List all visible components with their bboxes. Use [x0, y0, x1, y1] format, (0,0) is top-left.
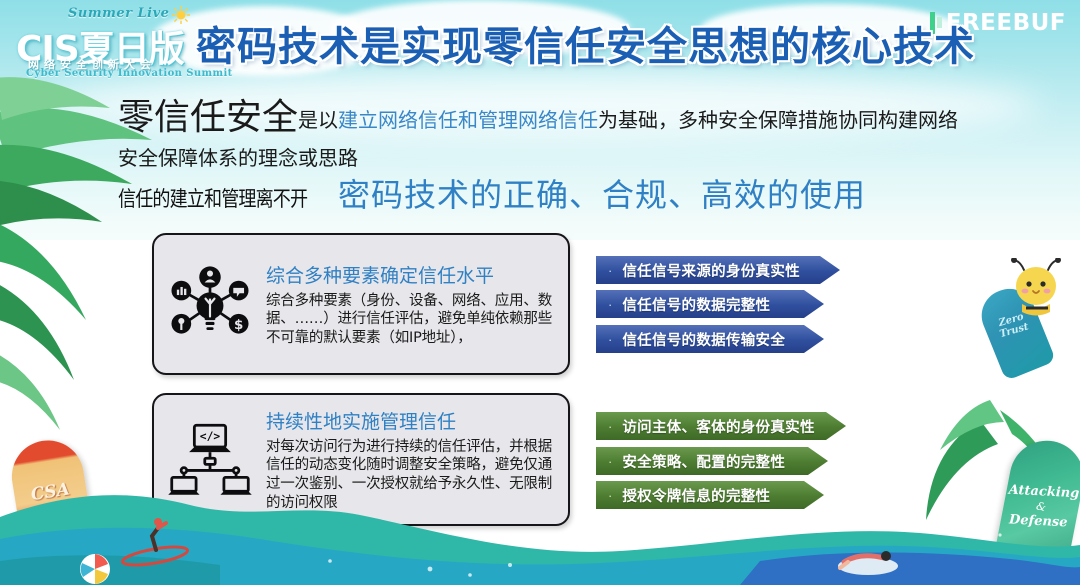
intro-tail: 为基础，多种安全保障措施协同构建网络: [598, 110, 958, 132]
intro-paragraph: 零信任安全是以建立网络信任和管理网络信任为基础，多种安全保障措施协同构建网络 安…: [118, 100, 1018, 171]
claim-emphasis: 密码技术的正确、合规、高效的使用: [338, 176, 866, 214]
cis-event-logo: Summer Live CIS夏日版 网络安全创新大会 Cyber Securi…: [12, 4, 192, 78]
beach-ball-decoration: [78, 552, 112, 585]
bullet-icon: ·: [608, 333, 612, 346]
banner-blue-2: · 信任信号的数据完整性: [596, 290, 824, 318]
banner-label: 信任信号的数据传输安全: [622, 329, 785, 350]
slide-title: 密码技术是实现零信任安全思想的核心技术: [196, 14, 975, 72]
banner-label: 访问主体、客体的身份真实性: [622, 416, 814, 437]
intro-lead: 是以: [298, 110, 338, 132]
card-text: 综合多种要素（身份、设备、网络、应用、数据、……）进行信任评估，避免单纯依赖那些…: [266, 292, 556, 348]
card-title: 综合多种要素确定信任水平: [266, 261, 556, 288]
claim-line: 信任的建立和管理离不开密码技术的正确、合规、高效的使用: [118, 170, 866, 216]
intro-highlight: 建立网络信任和管理网络信任: [338, 110, 598, 132]
intro-line-1: 零信任安全是以建立网络信任和管理网络信任为基础，多种安全保障措施协同构建网络: [118, 100, 1018, 136]
swimmer-decoration: [828, 536, 906, 580]
svg-text:$: $: [234, 318, 243, 333]
summer-live-tagline: Summer Live: [68, 6, 169, 21]
slide-canvas: Summer Live CIS夏日版 网络安全创新大会 Cyber Securi…: [0, 0, 1080, 585]
bullet-icon: ·: [608, 298, 612, 311]
bullet-icon: ·: [608, 420, 612, 433]
banner-label: 信任信号的数据完整性: [622, 294, 770, 315]
banner-blue-3: · 信任信号的数据传输安全: [596, 325, 824, 353]
banner-green-1: · 访问主体、客体的身份真实性: [596, 412, 846, 440]
surfer-decoration: [118, 512, 192, 568]
palm-leaf-decoration: [0, 210, 140, 440]
zero-trust-term: 零信任安全: [118, 97, 298, 138]
card-body: 综合多种要素确定信任水平 综合多种要素（身份、设备、网络、应用、数据、……）进行…: [266, 261, 568, 348]
content-card-trust-factors: $ 综合多种要素确定信任水平 综合多种要素（身份、设备、网络、应用、数据、……）…: [152, 233, 570, 375]
card-title: 持续性地实施管理信任: [266, 407, 556, 434]
bullet-icon: ·: [608, 264, 612, 277]
banner-blue-1: · 信任信号来源的身份真实性: [596, 256, 840, 284]
intro-line-2: 安全保障体系的理念或思路: [118, 142, 1018, 171]
network-lightbulb-icon: $: [154, 261, 266, 347]
banner-label: 信任信号来源的身份真实性: [622, 260, 800, 281]
claim-prefix: 信任的建立和管理离不开: [118, 183, 307, 213]
bee-mascot-icon: [1008, 258, 1068, 320]
svg-text:</>: </>: [200, 430, 221, 443]
